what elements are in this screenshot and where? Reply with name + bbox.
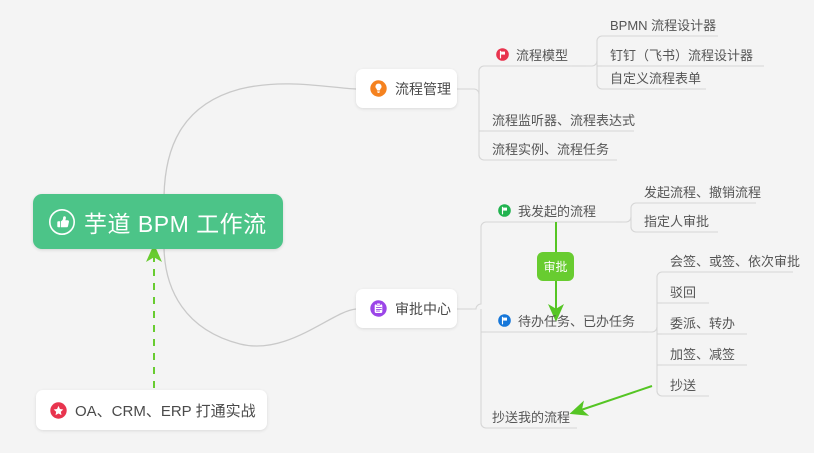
label-bpmn-designer: BPMN 流程设计器 — [610, 15, 716, 34]
branch-node-process-mgmt[interactable]: 流程管理 — [356, 69, 457, 108]
node-custom-process-form[interactable]: 自定义流程表单 — [606, 67, 705, 89]
branch-node-approval-center[interactable]: 审批中心 — [356, 289, 457, 328]
label-reject: 驳回 — [670, 282, 696, 301]
flag-icon — [496, 48, 509, 61]
node-cc-to-me-process[interactable]: 抄送我的流程 — [488, 406, 574, 428]
curve-to-approval-center — [164, 248, 356, 346]
node-bpmn-designer[interactable]: BPMN 流程设计器 — [606, 14, 720, 36]
node-countersign-orsign-sequential[interactable]: 会签、或签、依次审批 — [666, 250, 804, 272]
bracket-up-process-mgmt — [479, 66, 484, 94]
label-my-initiated-process: 我发起的流程 — [518, 201, 596, 220]
label-assignee-approval: 指定人审批 — [644, 211, 709, 230]
node-add-remove-sign[interactable]: 加签、减签 — [666, 343, 739, 365]
bracket-down-process-model — [597, 61, 602, 89]
floating-node-integration[interactable]: OA、CRM、ERP 打通实战 — [36, 390, 267, 430]
bracket-todo-down — [657, 327, 662, 396]
label-countersign-orsign-sequential: 会签、或签、依次审批 — [670, 251, 800, 270]
label-add-remove-sign: 加签、减签 — [670, 344, 735, 363]
root-node[interactable]: 芋道 BPM 工作流 — [33, 194, 283, 249]
node-cc[interactable]: 抄送 — [666, 374, 700, 396]
label-custom-process-form: 自定义流程表单 — [610, 68, 701, 87]
approve-badge-label: 审批 — [543, 258, 567, 275]
label-cc: 抄送 — [670, 375, 696, 394]
label-dingtalk-feishu-designer: 钉钉（飞书）流程设计器 — [610, 45, 753, 64]
root-label: 芋道 BPM 工作流 — [84, 205, 267, 239]
node-my-initiated-process[interactable]: 我发起的流程 — [494, 200, 600, 222]
node-reject[interactable]: 驳回 — [666, 281, 700, 303]
node-todo-done-tasks[interactable]: 待办任务、已办任务 — [494, 310, 639, 332]
flag-icon — [498, 204, 511, 217]
node-process-listener-expression[interactable]: 流程监听器、流程表达式 — [488, 109, 639, 131]
node-start-cancel-process[interactable]: 发起流程、撤销流程 — [640, 181, 765, 203]
bracket-process-mgmt — [470, 89, 484, 160]
bracket-my-initiated-down — [631, 217, 636, 232]
label-process-model: 流程模型 — [516, 45, 568, 64]
clipboard-icon — [370, 300, 387, 317]
node-assignee-approval[interactable]: 指定人审批 — [640, 210, 713, 232]
bracket-process-model — [586, 36, 602, 66]
flag-icon — [498, 314, 511, 327]
label-process-instance-task: 流程实例、流程任务 — [492, 139, 609, 158]
thumbs-up-icon — [49, 209, 75, 235]
cc-relation-arrow — [578, 386, 652, 411]
branch-label-approval-center: 审批中心 — [395, 299, 451, 319]
star-icon — [50, 402, 67, 419]
bracket-my-initiated — [622, 203, 636, 222]
floating-label-integration: OA、CRM、ERP 打通实战 — [75, 400, 256, 421]
curve-to-process-mgmt — [164, 84, 356, 196]
label-todo-done-tasks: 待办任务、已办任务 — [518, 311, 635, 330]
approve-badge: 审批 — [537, 252, 574, 281]
branch-label-process-mgmt: 流程管理 — [395, 79, 451, 99]
todo-done-leaf-lines — [642, 272, 793, 396]
bracket-approval-center-upper — [472, 222, 486, 309]
label-cc-to-me-process: 抄送我的流程 — [492, 407, 570, 426]
node-process-instance-task[interactable]: 流程实例、流程任务 — [488, 138, 613, 160]
mindmap-canvas: 芋道 BPM 工作流 流程管理 流程模型 流程监听器、流程表达式 — [0, 0, 814, 453]
node-process-model[interactable]: 流程模型 — [492, 44, 572, 66]
node-dingtalk-feishu-designer[interactable]: 钉钉（飞书）流程设计器 — [606, 44, 757, 66]
lightbulb-icon — [370, 80, 387, 97]
arrow-cc-to-ccme — [578, 386, 652, 411]
bracket-todo-up — [648, 272, 662, 332]
bracket-approval-center-lower — [481, 309, 486, 428]
node-delegate-transfer[interactable]: 委派、转办 — [666, 312, 739, 334]
label-process-listener-expression: 流程监听器、流程表达式 — [492, 110, 635, 129]
label-delegate-transfer: 委派、转办 — [670, 313, 735, 332]
label-start-cancel-process: 发起流程、撤销流程 — [644, 182, 761, 201]
